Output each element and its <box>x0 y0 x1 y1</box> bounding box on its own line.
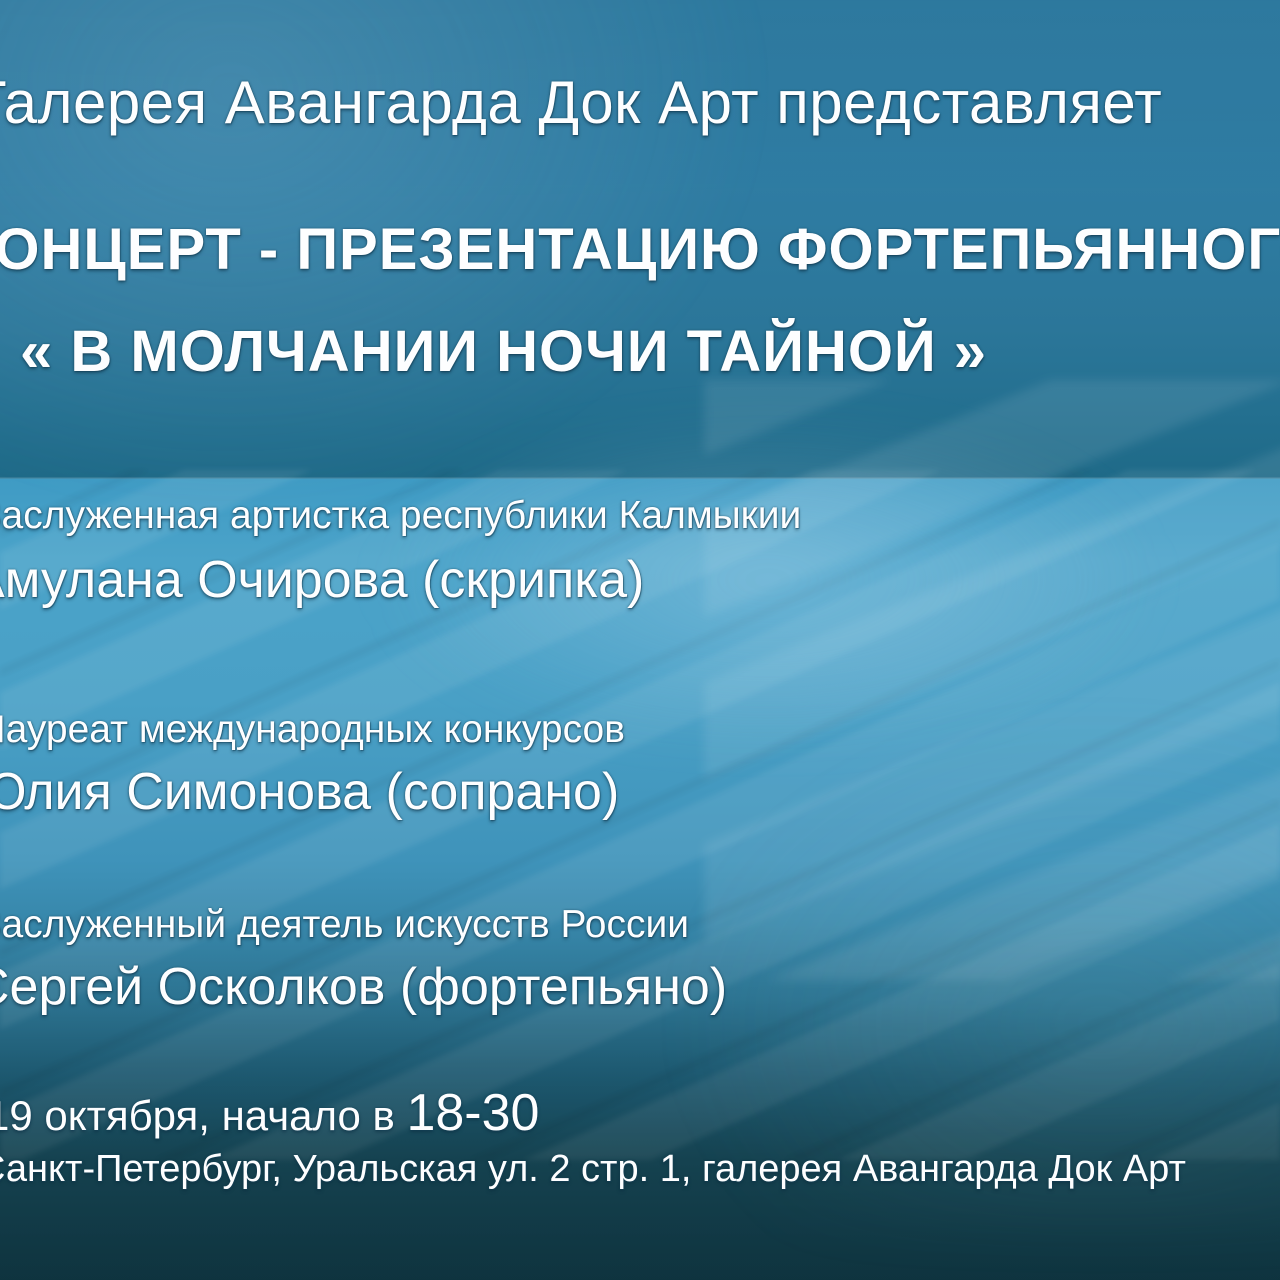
event-date-text: 19 октября, начало в <box>0 1092 406 1139</box>
performer-name-3: Сергей Осколков (фортепьяно) <box>0 957 727 1017</box>
event-time-text: 18-30 <box>406 1084 539 1142</box>
concert-poster: Галерея Авангарда Док Арт представляет К… <box>0 0 1280 1280</box>
venue-address: Санкт-Петербург, Уральская ул. 2 стр. 1,… <box>0 1148 1186 1191</box>
presenter-line: Галерея Авангарда Док Арт представляет <box>0 68 1162 137</box>
event-datetime: 19 октября, начало в 18-30 <box>0 1083 539 1143</box>
performer-name-2: Юлия Симонова (сопрано) <box>0 762 619 822</box>
event-title-line: КОНЦЕРТ - ПРЕЗЕНТАЦИЮ ФОРТЕПЬЯННОГО <box>0 216 1280 283</box>
performer-name-1: Амулана Очирова (скрипка) <box>0 550 644 610</box>
performer-role-2: Лауреат международных конкурсов <box>0 708 625 752</box>
performer-role-3: Заслуженный деятель искусств России <box>0 903 689 947</box>
poster-content: Галерея Авангарда Док Арт представляет К… <box>0 0 1280 1280</box>
program-title-line: « В МОЛЧАНИИ НОЧИ ТАЙНОЙ » <box>20 318 987 385</box>
performer-role-1: Заслуженная артистка республики Калмыкии <box>0 494 801 538</box>
